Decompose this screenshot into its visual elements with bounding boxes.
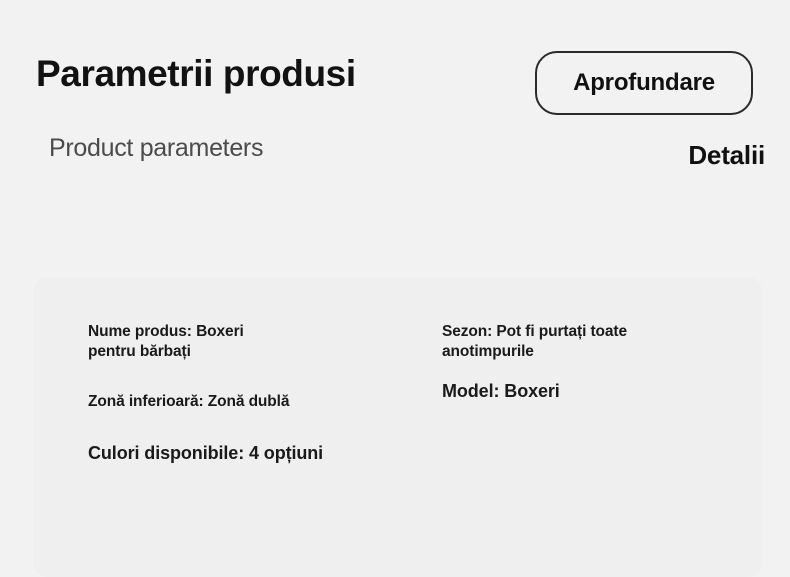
- page-subtitle: Product parameters: [49, 135, 263, 163]
- param-nume-produs: Nume produs: Boxeri pentru bărbați: [88, 322, 428, 362]
- section-label-detalii: Detalii: [688, 140, 765, 171]
- aprofundare-button-label: Aprofundare: [573, 69, 715, 97]
- parameters-right-column: Sezon: Pot fi purtați toate anotimpurile…: [442, 322, 772, 403]
- param-nume-produs-line1: Nume produs: Boxeri: [88, 322, 428, 342]
- param-sezon-line1: Sezon: Pot fi purtați toate: [442, 322, 772, 342]
- param-model: Model: Boxeri: [442, 380, 772, 403]
- page-title: Parametrii produsi: [36, 54, 356, 94]
- param-sezon-line2: anotimpurile: [442, 342, 772, 362]
- param-zona-inferioara: Zonă inferioară: Zonă dublă: [88, 392, 428, 412]
- parameters-left-column: Nume produs: Boxeri pentru bărbați Zonă …: [88, 322, 428, 465]
- product-parameters-page: Parametrii produsi Product parameters Ap…: [0, 0, 790, 543]
- param-sezon: Sezon: Pot fi purtați toate anotimpurile: [442, 322, 772, 362]
- param-nume-produs-line2: pentru bărbați: [88, 342, 428, 362]
- param-culori-disponibile: Culori disponibile: 4 opțiuni: [88, 442, 428, 465]
- aprofundare-button[interactable]: Aprofundare: [535, 51, 753, 115]
